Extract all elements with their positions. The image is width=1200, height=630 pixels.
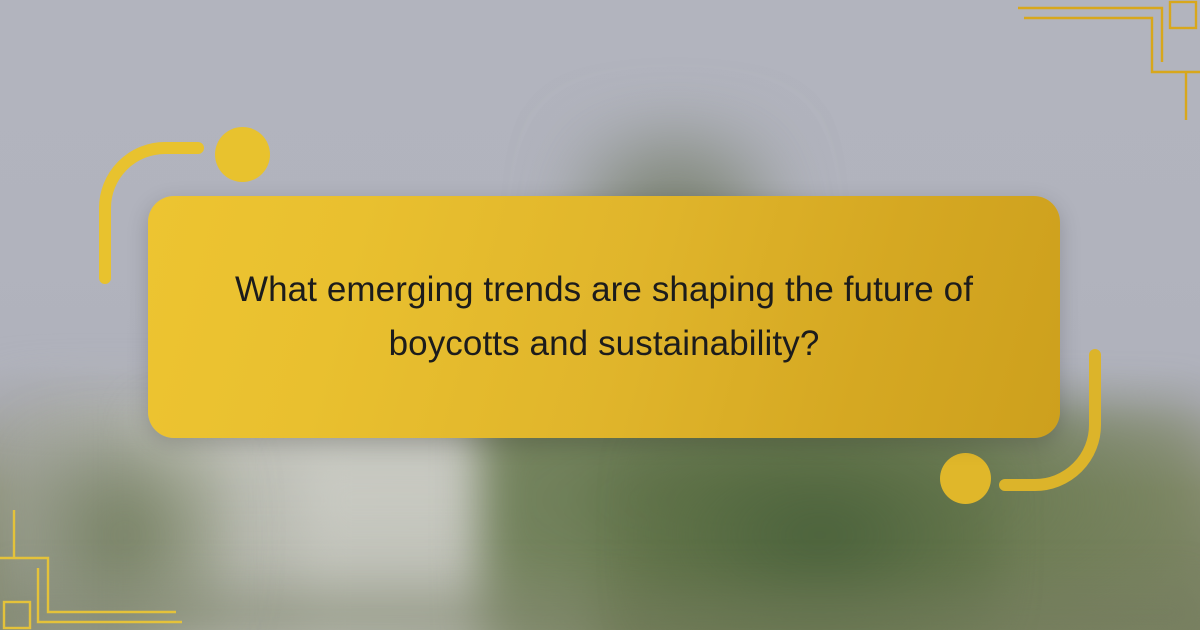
social-card-canvas: What emerging trends are shaping the fut… [0,0,1200,630]
question-text: What emerging trends are shaping the fut… [148,263,1060,372]
bottom-right-accent-dot [940,453,991,504]
top-left-accent-dot [215,127,270,182]
background-bottom-fade [0,560,1200,630]
question-card: What emerging trends are shaping the fut… [148,196,1060,438]
